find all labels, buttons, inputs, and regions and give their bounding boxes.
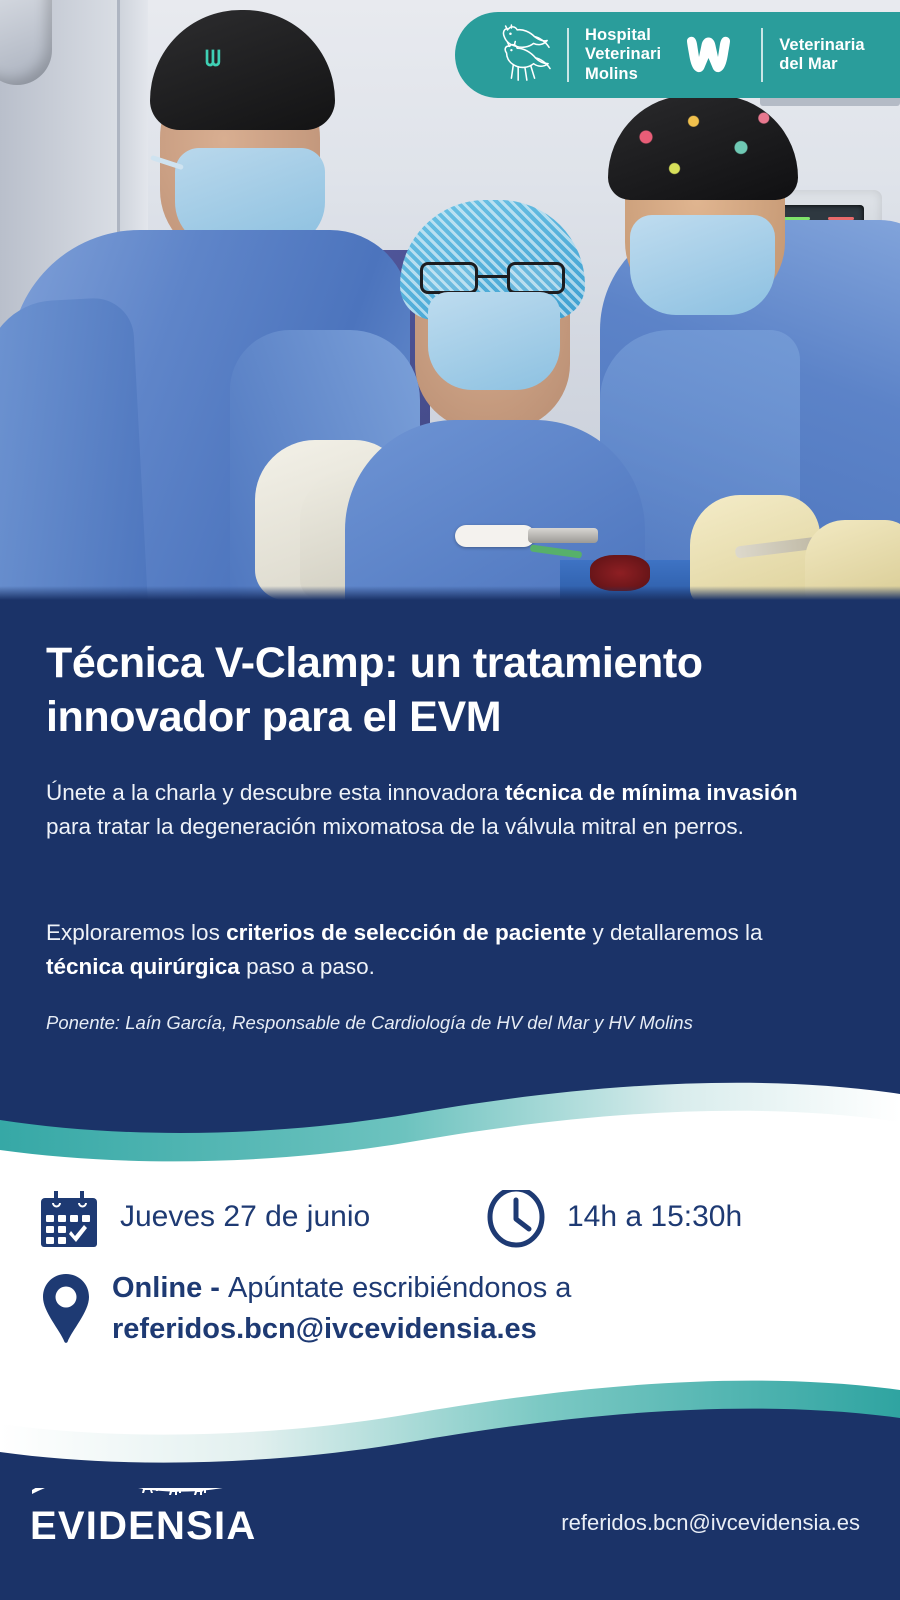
cap-logo-icon: ᗯ <box>205 48 249 78</box>
detail-text-2: y detallaremos la <box>586 920 762 945</box>
glasses-lens-right <box>507 262 565 294</box>
surgeon-left-arm <box>0 296 148 600</box>
event-place-row: Online - Apúntate escribiéndonos a refer… <box>40 1268 571 1350</box>
glasses-bridge <box>478 275 508 278</box>
detail-text-1: Exploraremos los <box>46 920 226 945</box>
intro-paragraph: Únete a la charla y descubre esta innova… <box>46 776 836 844</box>
veterinaria-del-mar-logo: Veterinaria del Mar <box>661 28 865 82</box>
surgical-instrument-shaft <box>528 528 598 543</box>
intro-text-2: para tratar la degeneración mixomatosa d… <box>46 814 744 839</box>
detail-bold-2: técnica quirúrgica <box>46 954 240 979</box>
detail-text-3: paso a paso. <box>240 954 375 979</box>
brand-divider-2 <box>761 28 763 82</box>
dog-bird-cat-line-icon <box>495 24 551 86</box>
place-instruction: Apúntate escribiéndonos a <box>228 1272 571 1304</box>
place-mode: Online - <box>112 1272 228 1304</box>
surgeon-center-glasses <box>420 262 565 294</box>
event-time-row: 14h a 15:30h <box>485 1186 742 1248</box>
event-time-text: 14h a 15:30h <box>567 1197 742 1237</box>
wave-divider-top <box>0 1070 900 1190</box>
clock-icon <box>485 1186 547 1248</box>
hospital-line-2: Veterinari <box>585 45 661 64</box>
wave-divider-bottom <box>0 1368 900 1488</box>
hospital-veterinari-molins-logo: Hospital Veterinari Molins <box>495 24 661 86</box>
surgeon-right-mask <box>630 215 775 315</box>
contact-email[interactable]: referidos.bcn@ivcevidensia.es <box>561 1510 860 1536</box>
vetmar-line-2: del Mar <box>779 55 865 74</box>
brand-bar: Hospital Veterinari Molins Veterinaria d… <box>455 12 900 98</box>
surgical-instrument-handle <box>455 525 535 547</box>
evidensia-wordmark: EVIDENSIA <box>30 1506 260 1546</box>
event-place-text: Online - Apúntate escribiéndonos a refer… <box>112 1268 571 1350</box>
hospital-line-3: Molins <box>585 65 661 84</box>
map-pin-icon <box>40 1272 92 1346</box>
calendar-check-icon <box>40 1186 100 1248</box>
brand-divider-1 <box>567 28 569 82</box>
detail-paragraph: Exploraremos los criterios de selección … <box>46 916 836 984</box>
intro-bold-1: técnica de mínima invasión <box>505 780 798 805</box>
w-monogram-icon <box>683 35 745 75</box>
event-date-text: Jueves 27 de junio <box>120 1197 370 1237</box>
detail-bold-1: criterios de selección de paciente <box>226 920 586 945</box>
vetmar-line-1: Veterinaria <box>779 36 865 55</box>
place-email[interactable]: referidos.bcn@ivcevidensia.es <box>112 1309 571 1350</box>
place-line-1: Online - Apúntate escribiéndonos a <box>112 1268 571 1309</box>
hospital-line-1: Hospital <box>585 26 661 45</box>
glasses-lens-left <box>420 262 478 294</box>
hospital-brand-text: Hospital Veterinari Molins <box>585 26 661 84</box>
page-title: Técnica V-Clamp: un tratamiento innovado… <box>46 636 846 744</box>
speaker-credit: Ponente: Laín García, Responsable de Car… <box>46 1012 866 1034</box>
photo-bottom-fade <box>0 586 900 600</box>
surgeon-center-mask <box>428 292 560 390</box>
event-date-row: Jueves 27 de junio <box>40 1186 370 1248</box>
intro-text-1: Únete a la charla y descubre esta innova… <box>46 780 505 805</box>
vetmar-brand-text: Veterinaria del Mar <box>779 36 865 75</box>
